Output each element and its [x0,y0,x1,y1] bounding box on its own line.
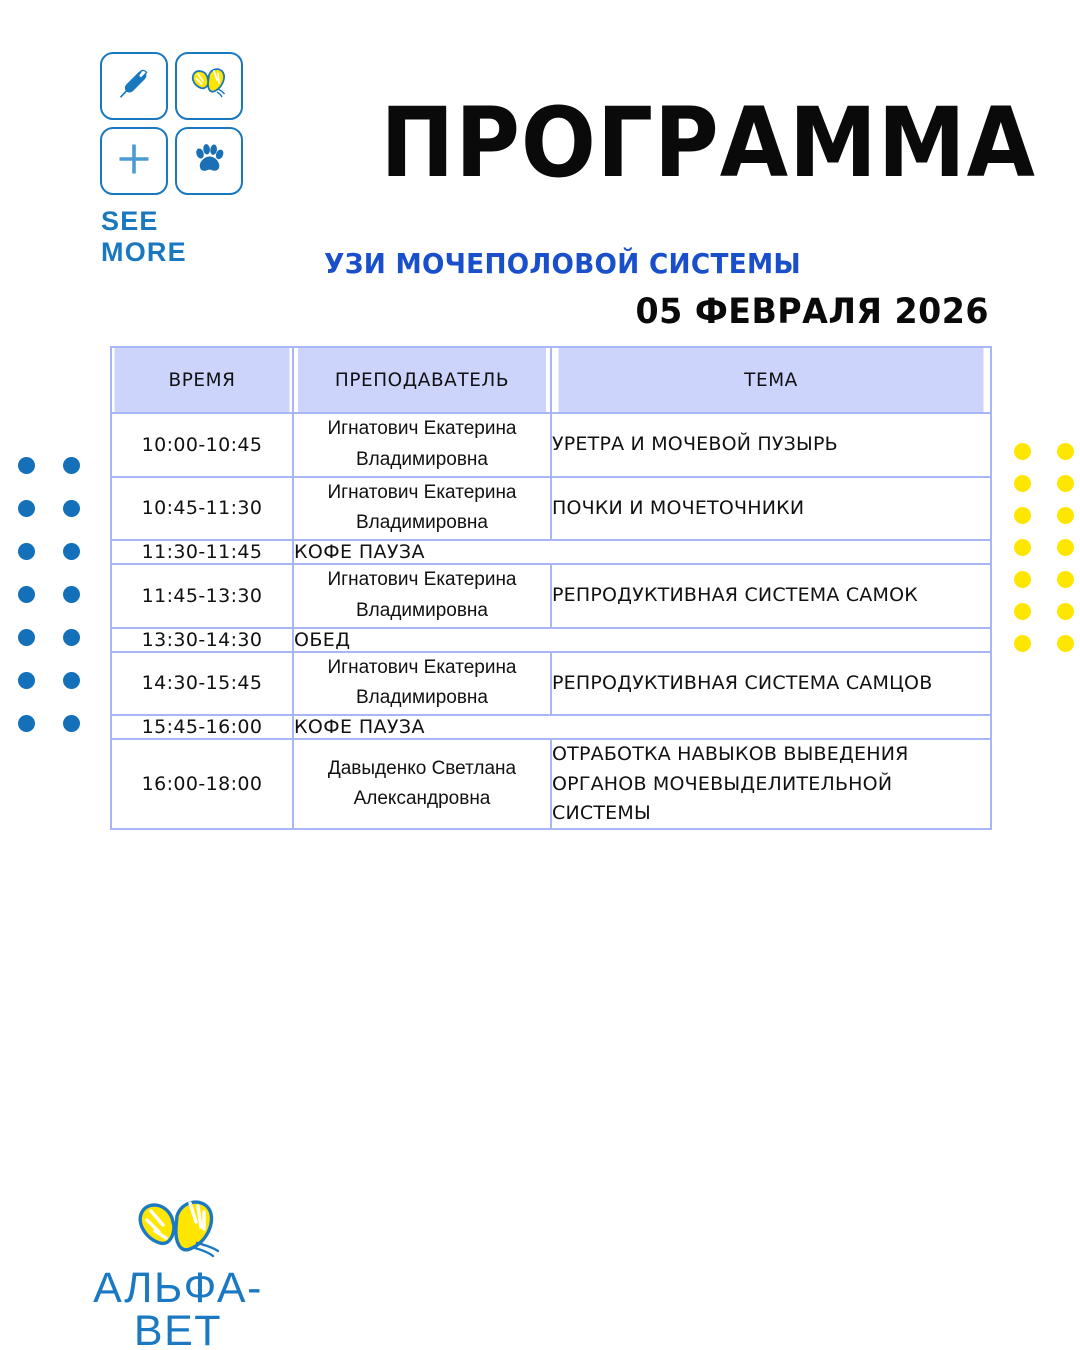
dot-icon [1057,475,1074,492]
dot-icon [63,715,80,732]
alfavet-wordmark: АЛЬФА-ВЕТ [52,1267,304,1350]
cell-time: 15:45-16:00 [111,715,293,739]
event-date: 05 ФЕВРАЛЯ 2026 [49,292,989,332]
dot-icon [63,500,80,517]
paw-print-icon [189,139,229,184]
decorative-dots-left [18,457,85,758]
cell-teacher: Давыденко Светлана Александровна [293,739,551,829]
dot-icon [63,586,80,603]
dot-icon [63,672,80,689]
dot-icon [63,629,80,646]
ultrasound-probe-icon [114,64,154,109]
column-header-time: ВРЕМЯ [114,347,291,413]
table-row: 11:45-13:30 Игнатович Екатерина Владимир… [111,564,991,628]
dot-icon [1057,539,1074,556]
cell-time: 11:45-13:30 [111,564,293,628]
cell-break-label: КОФЕ ПАУЗА [293,715,991,739]
page-title: ПРОГРАММА [380,95,963,191]
dot-icon [1014,571,1031,588]
dot-icon [18,672,35,689]
cell-break-label: КОФЕ ПАУЗА [293,540,991,564]
page-subtitle: УЗИ МОЧЕПОЛОВОЙ СИСТЕМЫ [59,247,989,280]
dot-icon [1057,507,1074,524]
logo-tile-paw [175,127,243,195]
dot-icon [1057,603,1074,620]
program-poster: SEE MORE ПРОГРАММА УЗИ МОЧЕПОЛОВОЙ СИСТЕ… [0,0,1080,1350]
logo-tile-plus [100,127,168,195]
decorative-dots-right [1014,443,1080,667]
table-row-break: 15:45-16:00 КОФЕ ПАУЗА [111,715,991,739]
dot-icon [1014,507,1031,524]
cell-topic: РЕПРОДУКТИВНАЯ СИСТЕМА САМЦОВ [551,652,991,716]
see-more-logo: SEE MORE [100,52,250,268]
dot-icon [18,586,35,603]
dot-icon [1014,539,1031,556]
dot-icon [1057,571,1074,588]
dot-icon [18,715,35,732]
butterfly-icon [126,1245,230,1262]
dot-icon [1057,443,1074,460]
cell-time: 16:00-18:00 [111,739,293,829]
schedule-body: 10:00-10:45 Игнатович Екатерина Владимир… [111,413,991,829]
cell-break-label: ОБЕД [293,628,991,652]
dot-icon [18,629,35,646]
logo-tile-butterfly [175,52,243,120]
table-row: 14:30-15:45 Игнатович Екатерина Владимир… [111,652,991,716]
table-row: 10:45-11:30 Игнатович Екатерина Владимир… [111,477,991,541]
dot-icon [63,543,80,560]
cell-topic: УРЕТРА И МОЧЕВОЙ ПУЗЫРЬ [551,413,991,477]
logo-icon-grid [100,52,250,195]
table-row-break: 13:30-14:30 ОБЕД [111,628,991,652]
cell-teacher: Игнатович Екатерина Владимировна [293,477,551,541]
dot-icon [1057,635,1074,652]
dot-icon [1014,603,1031,620]
table-row: 10:00-10:45 Игнатович Екатерина Владимир… [111,413,991,477]
table-row-break: 11:30-11:45 КОФЕ ПАУЗА [111,540,991,564]
cell-time: 11:30-11:45 [111,540,293,564]
cell-teacher: Игнатович Екатерина Владимировна [293,564,551,628]
cell-topic: ОТРАБОТКА НАВЫКОВ ВЫВЕДЕНИЯ ОРГАНОВ МОЧЕ… [551,739,991,829]
cell-time: 10:45-11:30 [111,477,293,541]
dot-icon [18,457,35,474]
cell-topic: РЕПРОДУКТИВНАЯ СИСТЕМА САМОК [551,564,991,628]
dot-icon [63,457,80,474]
alfavet-logo: АЛЬФА-ВЕТ ветеринарная клиника [52,1196,304,1350]
column-header-teacher: ПРЕПОДАВАТЕЛЬ [297,347,547,413]
cell-teacher: Игнатович Екатерина Владимировна [293,652,551,716]
table-row: 16:00-18:00 Давыденко Светлана Александр… [111,739,991,829]
plus-icon [114,139,154,184]
schedule-table: ВРЕМЯ ПРЕПОДАВАТЕЛЬ ТЕМА 10:00-10:45 Игн… [110,346,992,830]
dot-icon [1014,475,1031,492]
logo-tile-ultrasound [100,52,168,120]
cell-time: 13:30-14:30 [111,628,293,652]
dot-icon [1014,635,1031,652]
column-header-topic: ТЕМА [558,347,985,413]
cell-time: 14:30-15:45 [111,652,293,716]
table-header-row: ВРЕМЯ ПРЕПОДАВАТЕЛЬ ТЕМА [111,347,991,413]
dot-icon [18,500,35,517]
cell-topic: ПОЧКИ И МОЧЕТОЧНИКИ [551,477,991,541]
dot-icon [1014,443,1031,460]
cell-time: 10:00-10:45 [111,413,293,477]
cell-teacher: Игнатович Екатерина Владимировна [293,413,551,477]
dot-icon [18,543,35,560]
butterfly-icon [187,64,231,109]
